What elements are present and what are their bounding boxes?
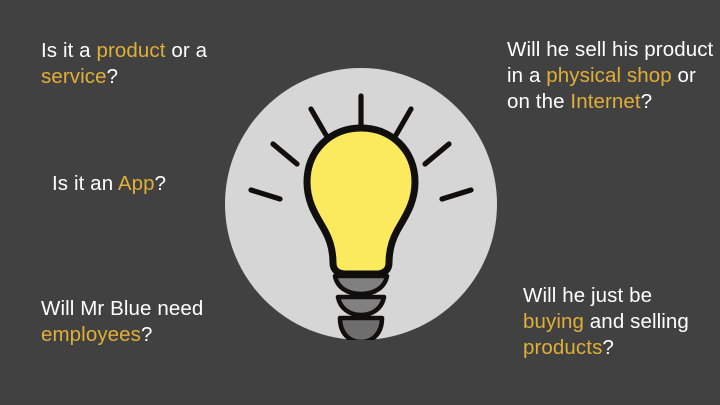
text-plain: and selling [584,310,695,333]
question-bottom-left: Will Mr Blue need employees? [41,296,246,348]
text-plain: ? [155,172,167,195]
question-bottom-right: Will he just be buying and selling produ… [523,283,718,361]
text-accent: App [118,172,155,195]
question-mid-left: Is it an App? [52,171,242,197]
text-plain: Will Mr Blue need [41,297,209,320]
bulb-base-threads [335,276,387,340]
text-plain: Will he just be [523,284,658,307]
text-plain: or a [166,39,213,62]
text-accent: physical shop [546,64,672,87]
text-accent: products [523,336,602,359]
text-accent: product [96,39,165,62]
text-accent: Internet [570,90,640,113]
text-accent: buying [523,310,584,333]
text-plain: ? [641,90,653,113]
lightbulb-graphic [225,68,497,340]
text-plain: ? [602,336,614,359]
question-top-left: Is it a product or a service? [41,38,241,90]
text-accent: employees [41,323,141,346]
text-plain: ? [141,323,153,346]
text-accent: service [41,65,107,88]
text-plain: Is it a [41,39,96,62]
text-plain: Is it an [52,172,118,195]
slide-canvas: Is it a product or a service? Is it an A… [0,0,720,405]
text-plain: ? [107,65,119,88]
question-top-right: Will he sell his product in a physical s… [507,37,715,115]
